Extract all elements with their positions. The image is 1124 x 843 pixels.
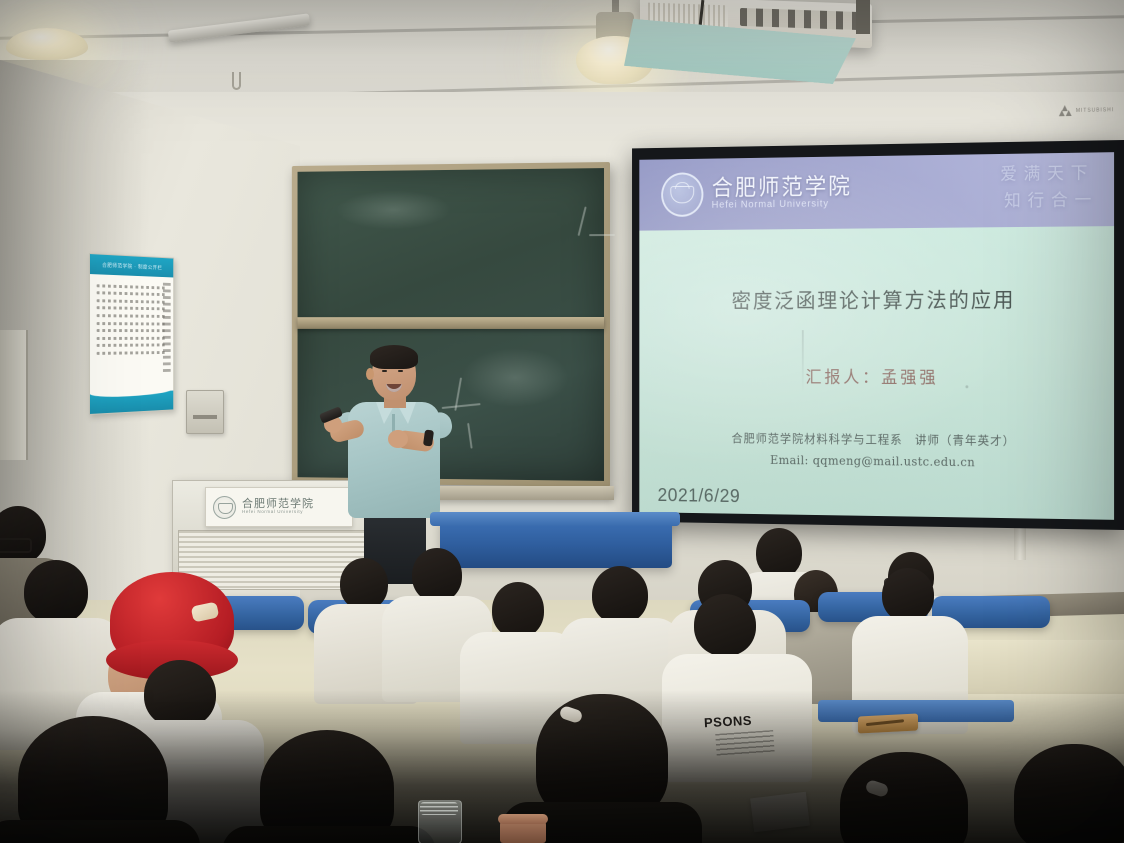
poster-side-column [163,283,171,374]
display-brand-text: MITSUBISHI [1076,107,1114,114]
cup-lid [498,814,548,824]
slide-title: 密度泛函理论计算方法的应用 [639,284,1114,315]
presentation-slide: 合肥师范学院 Hefei Normal University 爱满天下 知行合一… [639,152,1114,520]
motto-line-1: 爱满天下 [1000,158,1094,184]
university-name-en: Hefei Normal University [712,199,852,211]
projector-mount [856,0,870,34]
slide-body: 密度泛函理论计算方法的应用 汇报人：孟强强 合肥师范学院材料科学与工程系 讲师（… [639,226,1114,520]
projection-screen: MITSUBISHI 合肥师范学院 Hefei Normal Universit… [632,140,1124,530]
door-edge [0,330,28,460]
lecture-hall-photo: 合肥师范学院 · 制度公开栏 合肥师范学院 [0,0,1124,843]
wall-poster: 合肥师范学院 · 制度公开栏 [89,253,174,415]
motto-line-2: 知行合一 [1004,185,1098,211]
poster-body [90,274,173,394]
slide-affiliation: 合肥师范学院材料科学与工程系 讲师（青年英才） [639,429,1114,450]
slide-email: Email: qqmeng@mail.ustc.edu.cn [639,452,1114,471]
paper-sheet[interactable] [750,792,810,833]
slide-presenter-label: 汇报人：孟强强 [639,363,1114,389]
display-brand: MITSUBISHI [1059,104,1114,116]
university-motto: 爱满天下 知行合一 [1000,158,1094,211]
hefei-normal-university-seal-icon [661,172,703,217]
wall-control-box [186,390,224,434]
university-seal-icon [213,496,236,519]
shirt-print-subtext [715,730,775,758]
shirt-print-text: PSONS [704,713,753,730]
university-name-cn: 合肥师范学院 [712,175,852,201]
podium-sign: 合肥师范学院 Hefei Normal University [205,487,353,527]
jar-threads [420,802,458,815]
podium-sign-en: Hefei Normal University [242,510,314,515]
slide-logo-group: 合肥师范学院 Hefei Normal University [661,170,852,217]
pendant-dome-light-icon [6,28,88,60]
blackboard-divider [298,317,604,329]
mitsubishi-three-diamond-logo-icon [1059,105,1072,116]
poster-header-text: 合肥师范学院 · 制度公开栏 [102,261,162,271]
pencil-case[interactable] [858,713,918,733]
slide-header-band: 合肥师范学院 Hefei Normal University 爱满天下 知行合一 [639,152,1114,230]
ceiling-hook-icon [232,72,241,90]
desk-surface [430,512,680,526]
slide-date: 2021/6/29 [658,486,741,508]
